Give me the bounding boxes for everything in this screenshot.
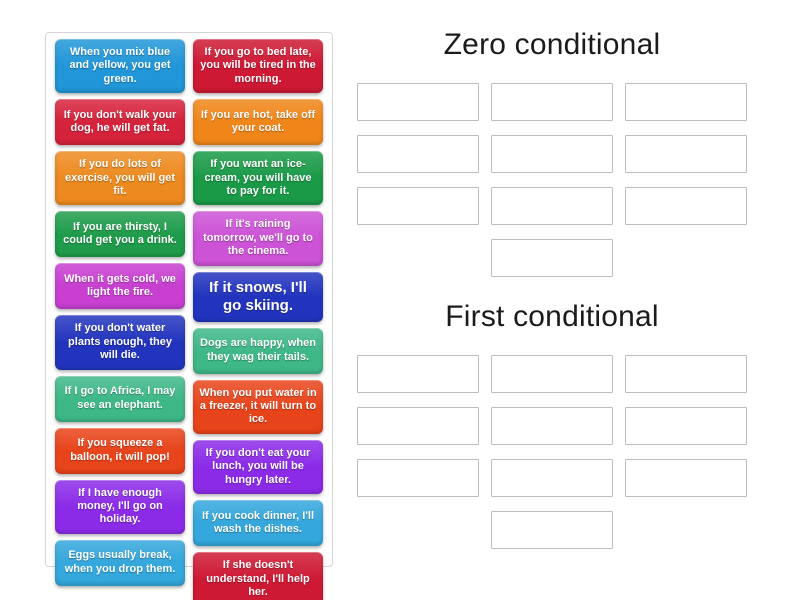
draggable-tile[interactable]: If you do lots of exercise, you will get… <box>55 151 185 205</box>
draggable-tile[interactable]: When you put water in a freezer, it will… <box>193 380 323 434</box>
drop-slot[interactable] <box>625 187 747 225</box>
tile-label: When you put water in a freezer, it will… <box>198 387 318 427</box>
drop-slot[interactable] <box>625 83 747 121</box>
tile-column-right: If you go to bed late, you will be tired… <box>189 39 327 600</box>
draggable-tile[interactable]: When you mix blue and yellow, you get gr… <box>55 39 185 93</box>
tile-label: If you are hot, take off your coat. <box>198 109 318 136</box>
draggable-tile[interactable]: If you don't walk your dog, he will get … <box>55 99 185 145</box>
drop-slot[interactable] <box>357 187 479 225</box>
tile-label: If it snows, I'll go skiing. <box>198 279 318 315</box>
drop-slot[interactable] <box>491 239 613 277</box>
activity-canvas: When you mix blue and yellow, you get gr… <box>0 0 800 600</box>
draggable-tile[interactable]: If I go to Africa, I may see an elephant… <box>55 376 185 422</box>
drop-slot[interactable] <box>357 135 479 173</box>
tile-label: If you cook dinner, I'll wash the dishes… <box>198 510 318 537</box>
tile-label: If you squeeze a balloon, it will pop! <box>60 437 180 464</box>
tile-label: If you want an ice-cream, you will have … <box>198 158 318 198</box>
drop-slot[interactable] <box>491 511 613 549</box>
tile-label: If you don't eat your lunch, you will be… <box>198 447 318 487</box>
draggable-tile[interactable]: If it snows, I'll go skiing. <box>193 272 323 322</box>
draggable-tile[interactable]: When it gets cold, we light the fire. <box>55 263 185 309</box>
draggable-tile[interactable]: If she doesn't understand, I'll help her… <box>193 552 323 600</box>
tile-label: If you go to bed late, you will be tired… <box>198 46 318 86</box>
tile-label: If she doesn't understand, I'll help her… <box>198 559 318 599</box>
tile-label: If you don't water plants enough, they w… <box>60 322 180 362</box>
tile-label: Dogs are happy, when they wag their tail… <box>198 337 318 364</box>
drop-slot[interactable] <box>625 355 747 393</box>
draggable-tile[interactable]: Eggs usually break, when you drop them. <box>55 540 185 586</box>
draggable-tile[interactable]: Dogs are happy, when they wag their tail… <box>193 328 323 374</box>
group-title-zero: Zero conditional <box>352 28 752 61</box>
drop-slot[interactable] <box>491 83 613 121</box>
tile-label: If you do lots of exercise, you will get… <box>60 158 180 198</box>
draggable-tile[interactable]: If you are hot, take off your coat. <box>193 99 323 145</box>
draggable-tile[interactable]: If it's raining tomorrow, we'll go to th… <box>193 211 323 265</box>
drop-slot[interactable] <box>357 83 479 121</box>
group-zero-conditional: Zero conditional <box>352 28 752 277</box>
draggable-tile[interactable]: If I have enough money, I'll go on holid… <box>55 480 185 534</box>
drop-slot[interactable] <box>491 355 613 393</box>
draggable-tile[interactable]: If you don't eat your lunch, you will be… <box>193 440 323 494</box>
draggable-tile[interactable]: If you want an ice-cream, you will have … <box>193 151 323 205</box>
drop-slot[interactable] <box>625 135 747 173</box>
draggable-tile[interactable]: If you are thirsty, I could get you a dr… <box>55 211 185 257</box>
drop-slot[interactable] <box>491 187 613 225</box>
drop-slot[interactable] <box>357 407 479 445</box>
drop-slot[interactable] <box>491 459 613 497</box>
group-first-conditional: First conditional <box>352 300 752 549</box>
tile-label: If I go to Africa, I may see an elephant… <box>60 385 180 412</box>
drop-slot-grid-first[interactable] <box>352 355 752 549</box>
draggable-tile[interactable]: If you go to bed late, you will be tired… <box>193 39 323 93</box>
group-title-first: First conditional <box>352 300 752 333</box>
tile-label: If I have enough money, I'll go on holid… <box>60 487 180 527</box>
word-bank-panel[interactable]: When you mix blue and yellow, you get gr… <box>45 32 333 567</box>
tile-label: If you are thirsty, I could get you a dr… <box>60 221 180 248</box>
drop-slot[interactable] <box>357 459 479 497</box>
drop-slot[interactable] <box>625 407 747 445</box>
tile-label: If it's raining tomorrow, we'll go to th… <box>198 218 318 258</box>
drop-slot[interactable] <box>625 459 747 497</box>
draggable-tile[interactable]: If you don't water plants enough, they w… <box>55 315 185 369</box>
tile-column-left: When you mix blue and yellow, you get gr… <box>51 39 189 600</box>
drop-slot-grid-zero[interactable] <box>352 83 752 277</box>
tile-label: When it gets cold, we light the fire. <box>60 273 180 300</box>
tile-label: When you mix blue and yellow, you get gr… <box>60 46 180 86</box>
draggable-tile[interactable]: If you cook dinner, I'll wash the dishes… <box>193 500 323 546</box>
tile-label: Eggs usually break, when you drop them. <box>60 549 180 576</box>
drop-slot[interactable] <box>491 407 613 445</box>
draggable-tile[interactable]: If you squeeze a balloon, it will pop! <box>55 428 185 474</box>
drop-slot[interactable] <box>357 355 479 393</box>
tile-label: If you don't walk your dog, he will get … <box>60 109 180 136</box>
drop-slot[interactable] <box>491 135 613 173</box>
